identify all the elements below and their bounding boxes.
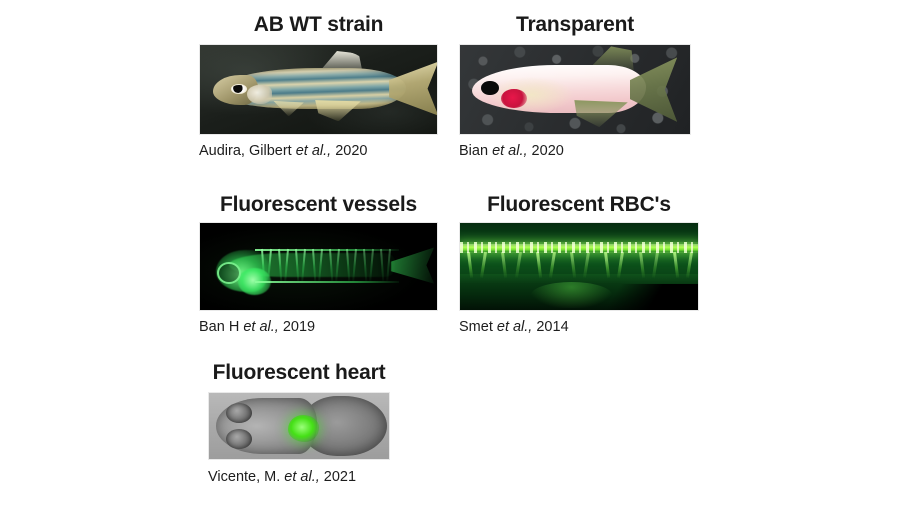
zebrafish-adult-striped-illustration	[217, 68, 407, 109]
intersegmental-vessel	[583, 252, 590, 278]
caption-ab-wt-strain: Audira, Gilbert et al., 2020	[199, 143, 438, 160]
dark-region	[589, 284, 698, 310]
intersegmental-vessels	[260, 249, 395, 281]
intersegmental-vessel	[570, 252, 576, 278]
panel-title-ab-wt-strain: AB WT strain	[199, 14, 438, 36]
caption-et-al: et al.,	[492, 143, 527, 159]
intersegmental-vessel	[267, 249, 272, 281]
intersegmental-vessel	[386, 249, 391, 281]
intersegmental-vessel	[363, 249, 367, 281]
intersegmental-vessel	[295, 249, 299, 281]
intersegmental-vessel	[369, 249, 374, 281]
caption-fluorescent-heart: Vicente, M. et al., 2021	[208, 469, 390, 486]
intersegmental-vessel	[514, 252, 521, 278]
caption-transparent: Bian et al., 2020	[459, 143, 691, 160]
intersegmental-vessel	[536, 252, 542, 278]
larva-eye-right	[226, 429, 252, 449]
caption-et-al: et al.,	[296, 143, 331, 159]
caption-year: 2020	[331, 143, 367, 159]
intersegmental-vessel	[301, 249, 306, 281]
caption-fluorescent-rbcs: Smet et al., 2014	[459, 319, 699, 336]
caption-year: 2019	[279, 319, 315, 335]
intersegmental-vessel	[686, 252, 693, 278]
photo-fluorescent-rbcs	[459, 222, 699, 311]
intersegmental-vessel	[617, 252, 624, 278]
intersegmental-vessel	[278, 249, 282, 281]
intersegmental-vessel	[284, 249, 289, 281]
intersegmental-vessel	[352, 249, 357, 281]
larva-eye	[217, 262, 241, 284]
intersegmental-vessel	[549, 252, 556, 278]
panel-fluorescent-heart: Fluorescent heart Vicente, M. et al., 20…	[208, 362, 390, 486]
caption-authors: Smet	[459, 319, 497, 335]
intersegmental-vessel	[652, 252, 659, 278]
intersegmental-vessel	[261, 249, 265, 281]
panel-fluorescent-vessels: Fluorescent vessels Ban H et al., 2019	[199, 194, 438, 336]
intersegmental-vessel	[639, 252, 645, 278]
panel-title-fluorescent-heart: Fluorescent heart	[208, 362, 390, 384]
intersegmental-vessel	[335, 249, 340, 281]
zebrafish-strain-figure: AB WT strain Audira, Gilbert et al., 202…	[0, 0, 900, 506]
panel-title-fluorescent-vessels: Fluorescent vessels	[199, 194, 438, 216]
anal-fin	[574, 100, 633, 127]
intersegmental-vessel	[480, 252, 487, 278]
caption-year: 2014	[532, 319, 568, 335]
panel-title-fluorescent-rbcs: Fluorescent RBC's	[459, 194, 699, 216]
caudal-fin	[389, 62, 438, 116]
panel-fluorescent-rbcs: Fluorescent RBC's Smet et al., 2014	[459, 194, 699, 336]
intersegmental-vessel	[467, 252, 473, 278]
photo-fluorescent-vessels	[199, 222, 438, 311]
caption-authors: Audira, Gilbert	[199, 143, 296, 159]
larva-eye-left	[226, 403, 252, 423]
panel-ab-wt-strain: AB WT strain Audira, Gilbert et al., 202…	[199, 14, 438, 160]
caption-authors: Bian	[459, 143, 492, 159]
caudal-fin	[630, 56, 677, 123]
caption-et-al: et al.,	[243, 319, 278, 335]
intersegmental-vessel	[380, 249, 384, 281]
caption-et-al: et al.,	[497, 319, 532, 335]
photo-fluorescent-heart	[208, 392, 390, 460]
intersegmental-vessel	[501, 252, 507, 278]
zebrafish-larva-vasculature	[212, 240, 430, 296]
intersegmental-vessel	[312, 249, 316, 281]
intersegmental-vessel	[318, 249, 323, 281]
zebrafish-transparent-illustration	[472, 65, 670, 113]
caption-authors: Ban H	[199, 319, 243, 335]
photo-ab-wt-strain	[199, 44, 438, 135]
panel-title-transparent: Transparent	[459, 14, 691, 36]
caption-et-al: et al.,	[284, 469, 319, 485]
fluorescent-heart-signal	[288, 415, 319, 441]
intersegmental-vessel	[329, 249, 333, 281]
intersegmental-vessel	[604, 252, 610, 278]
intersegmental-vessel	[346, 249, 350, 281]
intersegmental-vessel	[673, 252, 679, 278]
photo-transparent	[459, 44, 691, 135]
fish-opercle	[247, 85, 272, 104]
red-blood-cell-speckles	[460, 242, 698, 253]
caption-year: 2021	[320, 469, 356, 485]
panel-transparent: Transparent Bian et al., 2020	[459, 14, 691, 160]
caption-authors: Vicente, M.	[208, 469, 284, 485]
caption-year: 2020	[528, 143, 564, 159]
caption-fluorescent-vessels: Ban H et al., 2019	[199, 319, 438, 336]
blood-spot	[501, 89, 527, 108]
